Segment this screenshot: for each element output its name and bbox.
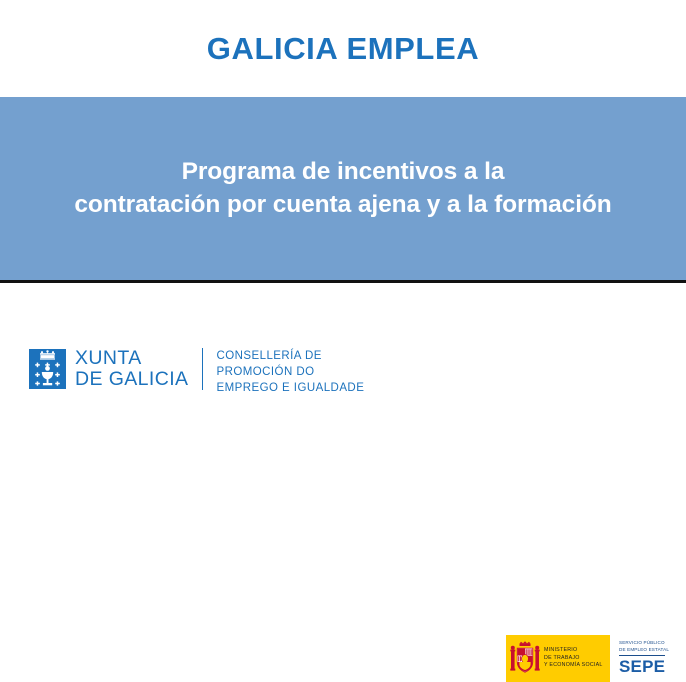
xunta-wordmark-line-1: XUNTA: [75, 348, 188, 369]
ministerio-text: MINISTERIO DE TRABAJO Y ECONOMÍA SOCIAL: [544, 647, 603, 670]
program-banner: Programa de incentivos a la contratación…: [0, 97, 686, 283]
ministerio-line-2: DE TRABAJO: [544, 655, 603, 663]
xunta-wordmark-line-2: DE GALICIA: [75, 369, 188, 390]
page-title: GALICIA EMPLEA: [207, 33, 479, 64]
sepe-logo: SERVICIO PÚBLICO DE EMPLEO ESTATAL SEPE: [610, 635, 674, 682]
xunta-de-galicia-logo: XUNTA DE GALICIA CONSELLERÍA DE PROMOCIÓ…: [29, 348, 364, 397]
sepe-subtitle-line-2: DE EMPLEO ESTATAL: [619, 647, 665, 654]
sepe-wordmark: SEPE: [619, 658, 665, 675]
ministerio-line-3: Y ECONOMÍA SOCIAL: [544, 662, 603, 670]
ministerio-logo: MINISTERIO DE TRABAJO Y ECONOMÍA SOCIAL: [506, 635, 610, 682]
chalice-crosses-icon: [29, 349, 66, 389]
xunta-wordmark: XUNTA DE GALICIA: [75, 348, 188, 390]
conselleria-line-3: EMPREGO E IGUALDADE: [216, 381, 364, 397]
sepe-subtitle-line-1: SERVICIO PÚBLICO: [619, 640, 665, 647]
conselleria-line-1: CONSELLERÍA DE: [216, 349, 364, 365]
sepe-subtitle: SERVICIO PÚBLICO DE EMPLEO ESTATAL: [619, 640, 665, 655]
program-banner-line-2: contratación por cuenta ajena y a la for…: [74, 189, 611, 222]
gobierno-de-espana-logo-block: MINISTERIO DE TRABAJO Y ECONOMÍA SOCIAL …: [506, 635, 674, 682]
spain-coat-of-arms-icon: [510, 641, 540, 677]
logo-divider: [202, 348, 203, 390]
program-banner-text: Programa de incentivos a la contratación…: [74, 156, 611, 221]
conselleria-line-2: PROMOCIÓN DO: [216, 365, 364, 381]
footer-logos: XUNTA DE GALICIA CONSELLERÍA DE PROMOCIÓ…: [0, 283, 686, 410]
xunta-de-galicia-coat-of-arms-icon: [29, 349, 66, 389]
program-banner-line-1: Programa de incentivos a la: [74, 156, 611, 189]
conselleria-text: CONSELLERÍA DE PROMOCIÓN DO EMPREGO E IG…: [216, 348, 364, 397]
ministerio-line-1: MINISTERIO: [544, 647, 603, 655]
page-header: GALICIA EMPLEA: [0, 0, 686, 97]
